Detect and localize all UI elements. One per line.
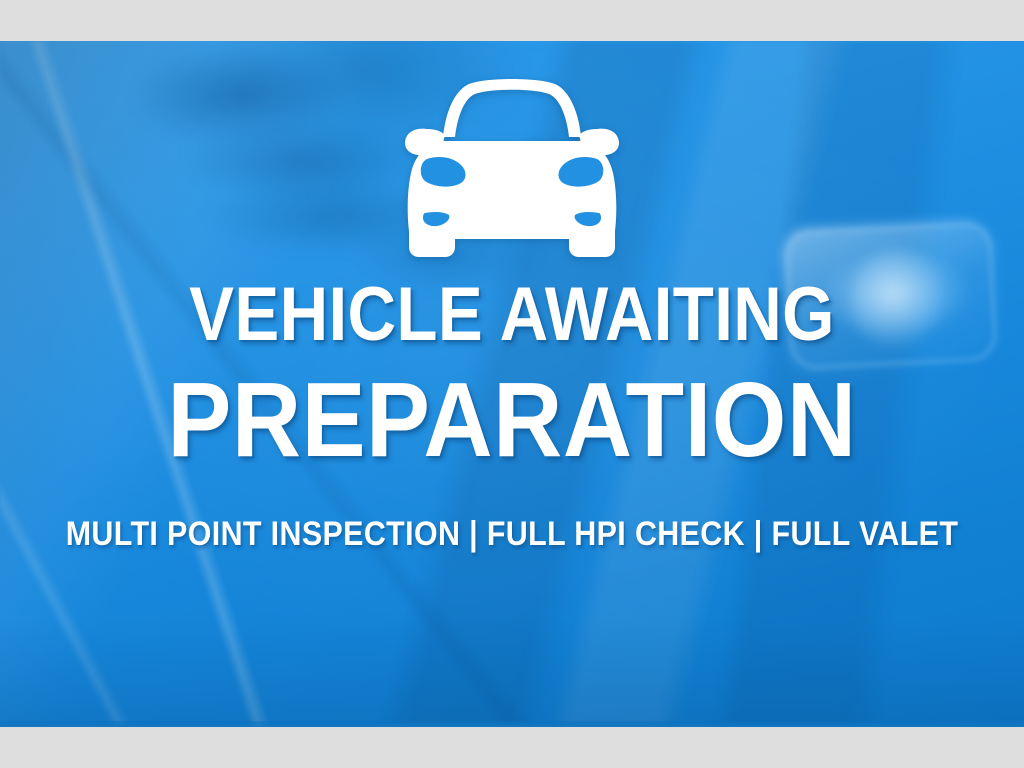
headline-line-2: PREPARATION <box>49 367 976 473</box>
headline-block: VEHICLE AWAITING PREPARATION MULTI POINT… <box>0 277 1024 551</box>
letterbox-bottom <box>0 727 1024 768</box>
screenshot-stage: VEHICLE AWAITING PREPARATION MULTI POINT… <box>0 0 1024 768</box>
vehicle-awaiting-preparation-banner: VEHICLE AWAITING PREPARATION MULTI POINT… <box>0 41 1024 727</box>
services-subheadline: MULTI POINT INSPECTION | FULL HPI CHECK … <box>54 517 970 551</box>
car-front-icon <box>383 63 641 263</box>
banner-content: VEHICLE AWAITING PREPARATION MULTI POINT… <box>0 41 1024 727</box>
letterbox-top <box>0 0 1024 41</box>
headline-line-1: VEHICLE AWAITING <box>59 277 965 353</box>
